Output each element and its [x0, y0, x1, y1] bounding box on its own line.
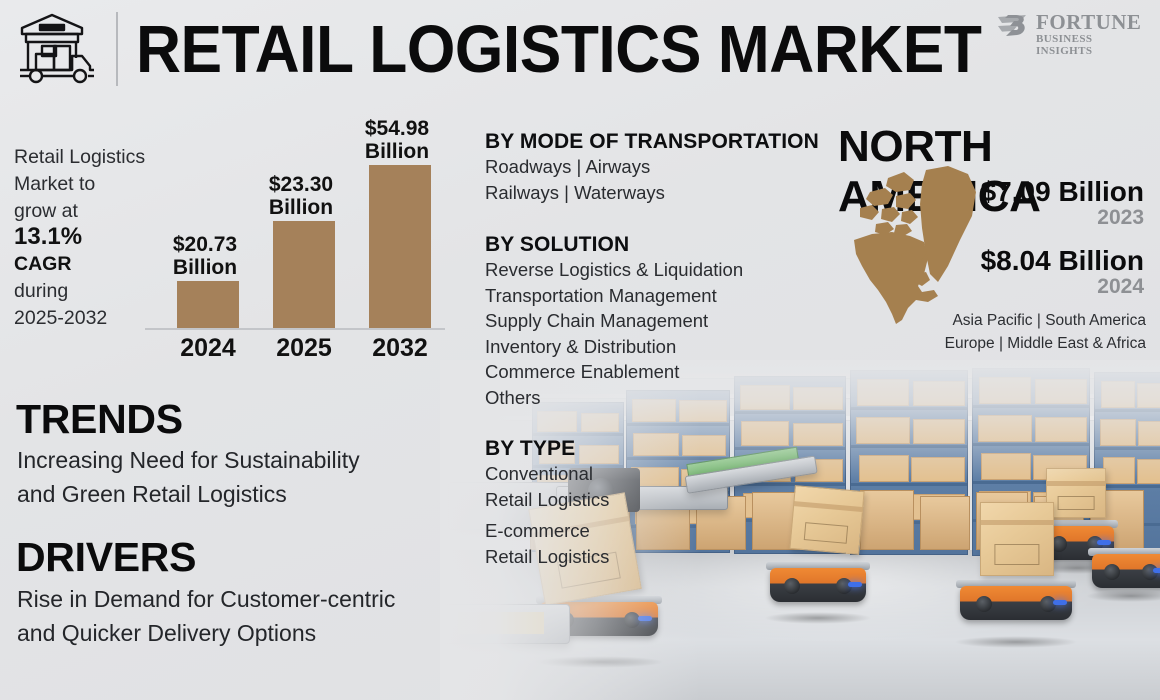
- list-item: Railways | Waterways: [485, 180, 819, 206]
- drivers-line2: and Quicker Delivery Options: [17, 616, 457, 650]
- cagr-line2: Market to: [14, 171, 154, 198]
- drivers-line1: Rise in Demand for Customer-centric: [17, 582, 457, 616]
- bar-category-1: 2025: [251, 334, 357, 363]
- segment-list: Reverse Logistics & Liquidation Transpor…: [485, 257, 743, 410]
- agv-robot: [770, 552, 866, 616]
- logo-line1: FORTUNE: [1036, 10, 1141, 35]
- list-item: Commerce Enablement: [485, 359, 743, 385]
- list-item: Retail Logistics: [485, 544, 609, 570]
- segment-list: Roadways | Airways Railways | Waterways: [485, 154, 819, 205]
- list-item: Retail Logistics: [485, 487, 609, 513]
- trends-line1: Increasing Need for Sustainability: [17, 443, 447, 477]
- infographic-page: RETAIL LOGISTICS MARKET FORTUNE BUSINESS…: [0, 0, 1160, 700]
- list-item: Others: [485, 385, 743, 411]
- bar-2032: [369, 165, 431, 328]
- bar-value-2: $54.98: [365, 117, 429, 140]
- list-item: Supply Chain Management: [485, 308, 743, 334]
- cagr-value: 13.1%: [14, 224, 154, 251]
- fb-monogram-icon: [996, 13, 1030, 43]
- agv-robot: [1092, 538, 1160, 594]
- drivers-heading: DRIVERS: [16, 534, 196, 581]
- agv-robot: [960, 570, 1072, 640]
- other-regions-line2: Europe | Middle East & Africa: [945, 332, 1146, 355]
- fortune-business-insights-logo: FORTUNE BUSINESS INSIGHTS: [996, 10, 1146, 52]
- list-item: Reverse Logistics & Liquidation: [485, 257, 743, 283]
- segment-by-type: BY TYPE Conventional Retail Logistics E-…: [485, 437, 609, 569]
- logo-line2: BUSINESS INSIGHTS: [1036, 33, 1146, 57]
- bar-unit-0: Billion: [173, 256, 237, 279]
- cagr-period: 2025-2032: [14, 305, 154, 332]
- warehouse-truck-icon: [12, 10, 100, 88]
- list-item: Roadways | Airways: [485, 154, 819, 180]
- segment-list: Conventional Retail Logistics E-commerce…: [485, 461, 609, 569]
- segment-heading: BY SOLUTION: [485, 233, 743, 257]
- bar-category-0: 2024: [155, 334, 261, 363]
- trends-body: Increasing Need for Sustainability and G…: [17, 443, 447, 511]
- region-value-2023: $7.09 Billion: [981, 176, 1144, 208]
- cagr-line1: Retail Logistics: [14, 144, 154, 171]
- segment-by-mode-of-transportation: BY MODE OF TRANSPORTATION Roadways | Air…: [485, 130, 819, 205]
- list-item: Inventory & Distribution: [485, 334, 743, 360]
- list-item: E-commerce: [485, 512, 609, 544]
- region-year-2023: 2023: [1097, 206, 1144, 230]
- region-value-2024: $8.04 Billion: [981, 245, 1144, 277]
- cagr-line3: grow at: [14, 198, 154, 225]
- chart-baseline: [145, 328, 445, 330]
- trends-line2: and Green Retail Logistics: [17, 477, 447, 511]
- market-size-bar-chart: $20.73 Billion 2024 $23.30 Billion 2025 …: [145, 105, 455, 370]
- list-item: Transportation Management: [485, 283, 743, 309]
- bar-2024: [177, 281, 239, 328]
- region-year-2024: 2024: [1097, 275, 1144, 299]
- cagr-statement: Retail Logistics Market to grow at 13.1%…: [14, 144, 154, 332]
- other-regions-line1: Asia Pacific | South America: [945, 309, 1146, 332]
- segment-by-solution: BY SOLUTION Reverse Logistics & Liquidat…: [485, 233, 743, 410]
- segment-heading: BY TYPE: [485, 437, 609, 461]
- cagr-line4: during: [14, 278, 154, 305]
- other-regions-list: Asia Pacific | South America Europe | Mi…: [945, 309, 1146, 355]
- list-item: Conventional: [485, 461, 609, 487]
- bar-category-2: 2032: [347, 334, 453, 363]
- trends-heading: TRENDS: [16, 396, 183, 443]
- bar-2025: [273, 221, 335, 328]
- bar-unit-2: Billion: [365, 140, 429, 163]
- drivers-body: Rise in Demand for Customer-centric and …: [17, 582, 457, 650]
- bar-unit-1: Billion: [269, 196, 333, 219]
- page-title: RETAIL LOGISTICS MARKET: [136, 12, 843, 88]
- cagr-metric: CAGR: [14, 251, 154, 278]
- bar-value-1: $23.30: [269, 173, 333, 196]
- header-divider: [116, 12, 118, 86]
- bar-value-0: $20.73: [173, 233, 237, 256]
- segment-heading: BY MODE OF TRANSPORTATION: [485, 130, 819, 154]
